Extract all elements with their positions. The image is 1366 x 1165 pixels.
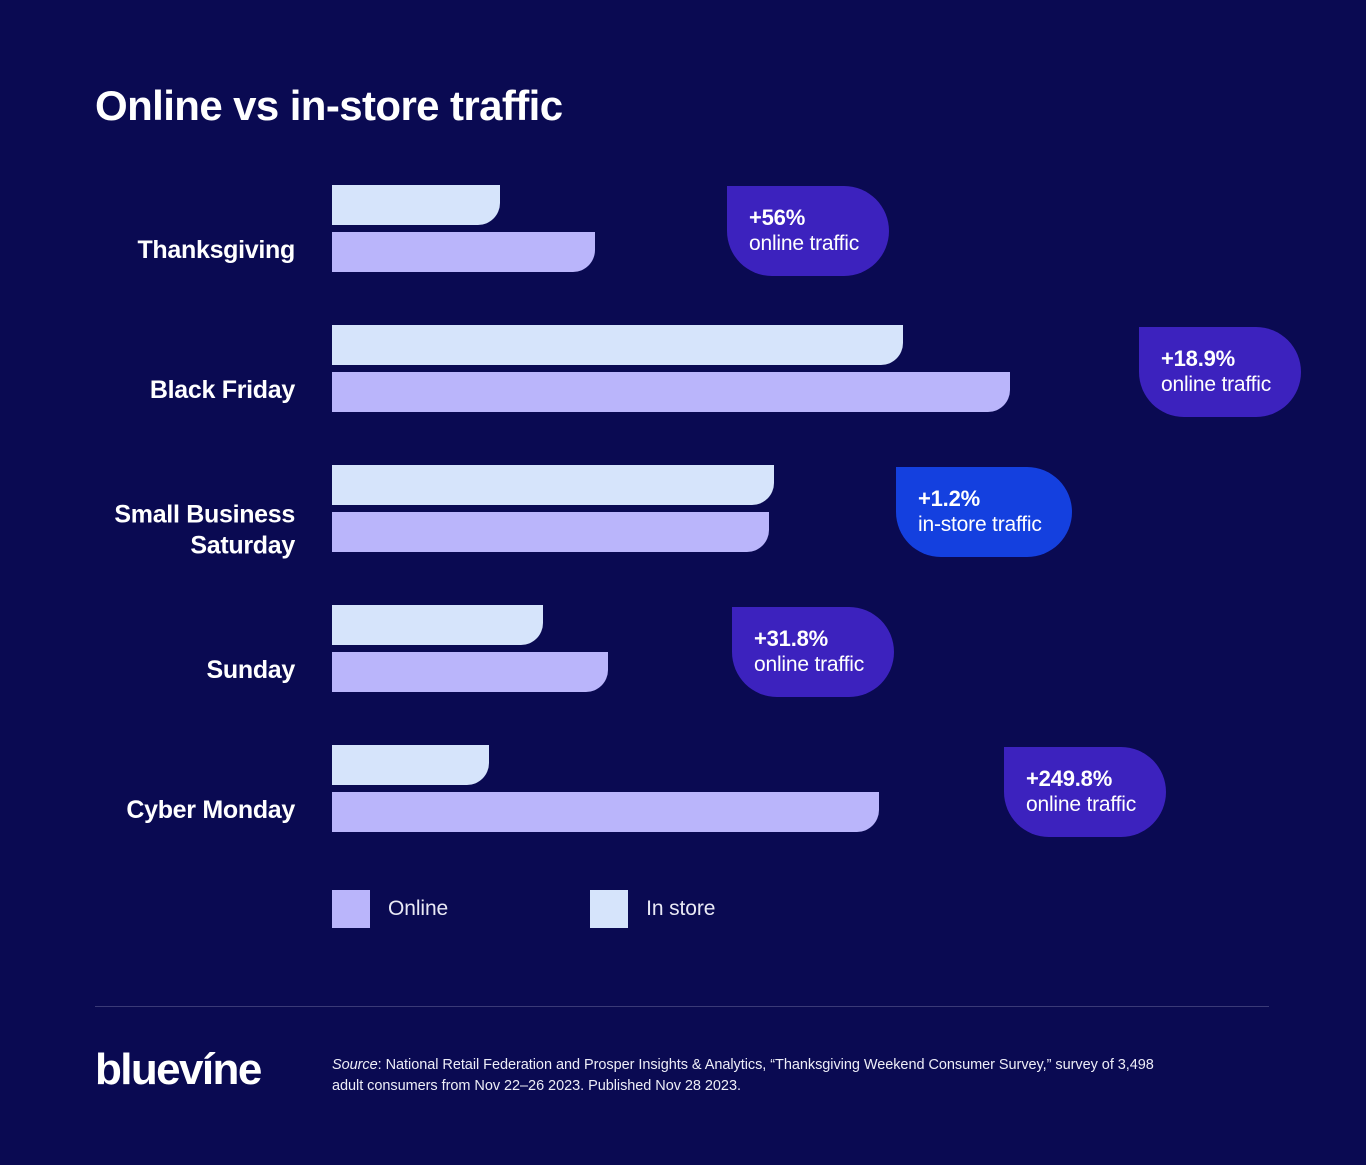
badge-value: +249.8% (1026, 766, 1136, 792)
bar-instore (332, 465, 774, 505)
row-label-thanksgiving: Thanksgiving (60, 235, 295, 266)
row-bars: +1.2%in-store traffic (332, 460, 1366, 600)
chart-row: Thanksgiving+56%online traffic (0, 180, 1366, 320)
badge-value: +18.9% (1161, 346, 1271, 372)
page-title: Online vs in-store traffic (95, 82, 563, 130)
badge-value: +31.8% (754, 626, 864, 652)
bar-instore (332, 745, 489, 785)
bar-instore (332, 325, 903, 365)
bar-online (332, 652, 608, 692)
row-bars: +249.8%online traffic (332, 740, 1366, 880)
badge-value: +1.2% (918, 486, 1042, 512)
chart-row: Sunday+31.8%online traffic (0, 600, 1366, 740)
bar-online (332, 232, 595, 272)
legend-item-online[interactable]: Online (332, 890, 448, 928)
row-bars: +18.9%online traffic (332, 320, 1366, 460)
source-label: Source (332, 1057, 378, 1073)
row-bars: +31.8%online traffic (332, 600, 1366, 740)
source-note: Source: National Retail Federation and P… (332, 1055, 1162, 1096)
callout-badge: +1.2%in-store traffic (896, 467, 1072, 557)
badge-caption: online traffic (1161, 372, 1271, 398)
bar-online (332, 512, 769, 552)
bluevine-logo: bluevíne (95, 1048, 261, 1092)
legend-swatch-icon (590, 890, 628, 928)
callout-badge: +18.9%online traffic (1139, 327, 1301, 417)
bar-instore (332, 605, 543, 645)
chart-legend: OnlineIn store (332, 890, 715, 928)
row-label-small-business-saturday: Small BusinessSaturday (60, 500, 295, 561)
legend-label: In store (646, 897, 715, 921)
row-label-black-friday: Black Friday (60, 375, 295, 406)
row-bars: +56%online traffic (332, 180, 1366, 320)
bar-instore (332, 185, 500, 225)
badge-caption: online traffic (1026, 792, 1136, 818)
row-label-cyber-monday: Cyber Monday (60, 795, 295, 826)
chart-row: Black Friday+18.9%online traffic (0, 320, 1366, 460)
row-label-sunday: Sunday (60, 655, 295, 686)
badge-caption: online traffic (749, 231, 859, 257)
bar-chart: Thanksgiving+56%online trafficBlack Frid… (0, 180, 1366, 880)
source-line-1: : National Retail Federation and Prosper… (378, 1057, 1052, 1073)
legend-swatch-icon (332, 890, 370, 928)
infographic-poster: Online vs in-store traffic Thanksgiving+… (0, 0, 1366, 1165)
row-label-line: Saturday (190, 531, 295, 559)
legend-label: Online (388, 897, 448, 921)
chart-row: Small BusinessSaturday+1.2%in-store traf… (0, 460, 1366, 600)
bar-online (332, 372, 1010, 412)
footer-divider (95, 1006, 1269, 1007)
chart-row: Cyber Monday+249.8%online traffic (0, 740, 1366, 880)
callout-badge: +249.8%online traffic (1004, 747, 1166, 837)
callout-badge: +56%online traffic (727, 186, 889, 276)
callout-badge: +31.8%online traffic (732, 607, 894, 697)
badge-caption: online traffic (754, 652, 864, 678)
legend-item-instore[interactable]: In store (590, 890, 715, 928)
bar-online (332, 792, 879, 832)
row-label-line: Small Business (114, 501, 295, 529)
badge-caption: in-store traffic (918, 512, 1042, 538)
badge-value: +56% (749, 205, 859, 231)
